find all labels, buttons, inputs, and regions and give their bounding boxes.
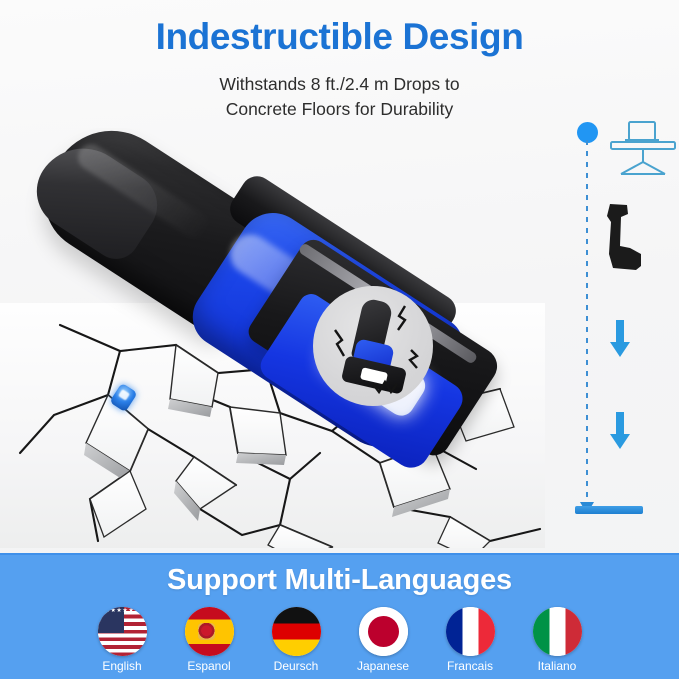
scanner-silhouette-icon [603, 202, 647, 276]
drop-height-diagram [545, 110, 679, 540]
floor-shard [268, 525, 332, 548]
page-title: Indestructible Design [0, 16, 679, 59]
inset-impact-marks [313, 286, 433, 406]
down-arrow-icon [609, 412, 631, 450]
product-feature-page: Indestructible Design Withstands 8 ft./2… [0, 0, 679, 679]
language-item-japanese[interactable]: Japanese [350, 607, 416, 673]
language-label: Francais [447, 659, 493, 673]
germany-flag-icon [272, 607, 321, 656]
floor-shard [438, 517, 490, 548]
impact-closeup-inset [313, 286, 433, 406]
ground-bar-icon [575, 506, 643, 514]
language-item-english[interactable]: ★★★★★★★★★★★★★★★★ English [89, 607, 155, 673]
down-arrow-icon [609, 320, 631, 358]
scanner-led-indicator [109, 383, 137, 413]
language-item-italiano[interactable]: Italiano [524, 607, 590, 673]
language-label: English [102, 659, 141, 673]
multi-language-banner: Support Multi-Languages ★★★★★★★★★★★★★★★★… [0, 553, 679, 679]
language-item-deutsch[interactable]: Deursch [263, 607, 329, 673]
language-label: Espanol [187, 659, 230, 673]
us-flag-icon: ★★★★★★★★★★★★★★★★ [98, 607, 147, 656]
language-label: Deursch [274, 659, 319, 673]
language-label: Italiano [538, 659, 577, 673]
language-label: Japanese [357, 659, 409, 673]
drop-path-line [586, 140, 588, 508]
spain-flag-icon [185, 607, 234, 656]
banner-title: Support Multi-Languages [0, 564, 679, 597]
italy-flag-icon [533, 607, 582, 656]
france-flag-icon [446, 607, 495, 656]
language-flag-list: ★★★★★★★★★★★★★★★★ English Espanol Deursch [0, 607, 679, 673]
subtitle-line-1: Withstands 8 ft./2.4 m Drops to [0, 72, 679, 97]
japan-flag-icon [359, 607, 408, 656]
language-item-francais[interactable]: Francais [437, 607, 503, 673]
language-item-espanol[interactable]: Espanol [176, 607, 242, 673]
laptop-on-desk-icon [607, 118, 679, 180]
product-photo [0, 128, 545, 548]
